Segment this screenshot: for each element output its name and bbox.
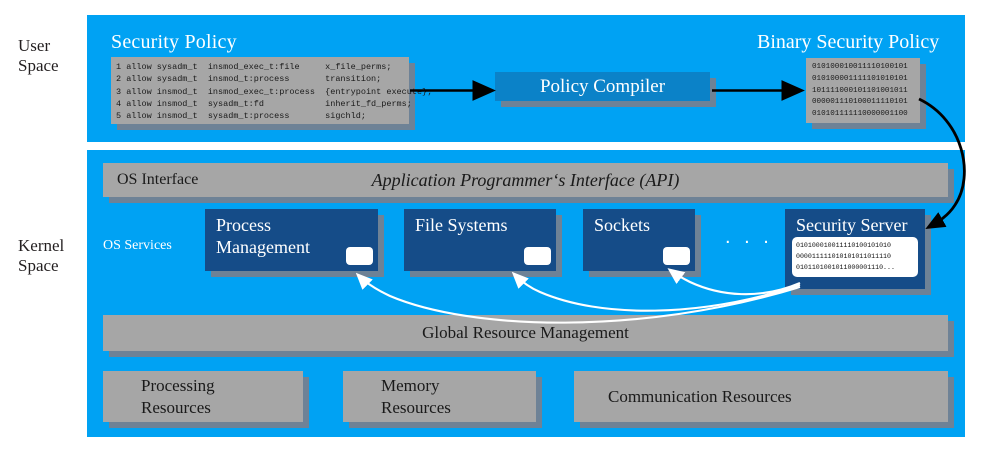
hook-icon-process-management: [346, 247, 373, 265]
resource-label-processing-resources: Processing Resources: [141, 371, 215, 422]
global-resource-management-label: Global Resource Management: [103, 315, 948, 351]
binary-security-policy-title: Binary Security Policy: [757, 31, 939, 54]
api-label: Application Programmerʻs Interface (API): [103, 163, 948, 197]
os-interface-bar: Application Programmerʻs Interface (API)…: [103, 163, 948, 197]
security-policy-code: 1 allow sysadm_t insmod_exec_t:file x_fi…: [116, 61, 408, 122]
os-services-label: OS Services: [103, 238, 172, 254]
service-label-sockets: Sockets: [594, 214, 689, 236]
service-box-sockets[interactable]: Sockets: [583, 209, 695, 271]
global-resource-management-bar: Global Resource Management: [103, 315, 948, 351]
policy-compiler-box[interactable]: Policy Compiler: [495, 72, 710, 101]
policy-compiler-label: Policy Compiler: [495, 72, 710, 101]
os-interface-label: OS Interface: [117, 163, 198, 197]
security-policy-code-box: 1 allow sysadm_t insmod_exec_t:file x_fi…: [111, 57, 409, 124]
service-box-security-server[interactable]: Security Server 010100010011110100101010…: [785, 209, 925, 289]
diagram-root: User Space Kernel Space Security Policy …: [0, 0, 1002, 450]
hook-icon-sockets: [663, 247, 690, 265]
binary-security-policy-box: 010100010011110100101 010100001111101010…: [806, 58, 920, 123]
security-server-bits-box: 010100010011110100101010 000011111010101…: [792, 237, 918, 277]
resource-label-memory-resources: Memory Resources: [381, 371, 451, 422]
kernel-space-panel: Application Programmerʻs Interface (API)…: [87, 150, 965, 437]
user-space-label: User Space: [18, 36, 59, 76]
service-label-file-systems: File Systems: [415, 214, 550, 236]
user-space-panel: Security Policy 1 allow sysadm_t insmod_…: [87, 15, 965, 142]
service-box-file-systems[interactable]: File Systems: [404, 209, 556, 271]
security-policy-title: Security Policy: [111, 31, 237, 54]
services-ellipsis: . . .: [725, 226, 773, 249]
resource-box-memory-resources: Memory Resources: [343, 371, 536, 422]
security-server-bits: 010100010011110100101010 000011111010101…: [796, 240, 895, 274]
resource-box-processing-resources: Processing Resources: [103, 371, 303, 422]
hook-icon-file-systems: [524, 247, 551, 265]
service-label-security-server: Security Server: [796, 214, 919, 236]
resource-box-communication-resources: Communication Resources: [574, 371, 948, 422]
resource-label-communication-resources: Communication Resources: [608, 371, 792, 422]
service-box-process-management[interactable]: Process Management: [205, 209, 378, 271]
binary-security-policy-bits: 010100010011110100101 010100001111101010…: [812, 62, 908, 121]
kernel-space-label: Kernel Space: [18, 236, 64, 276]
